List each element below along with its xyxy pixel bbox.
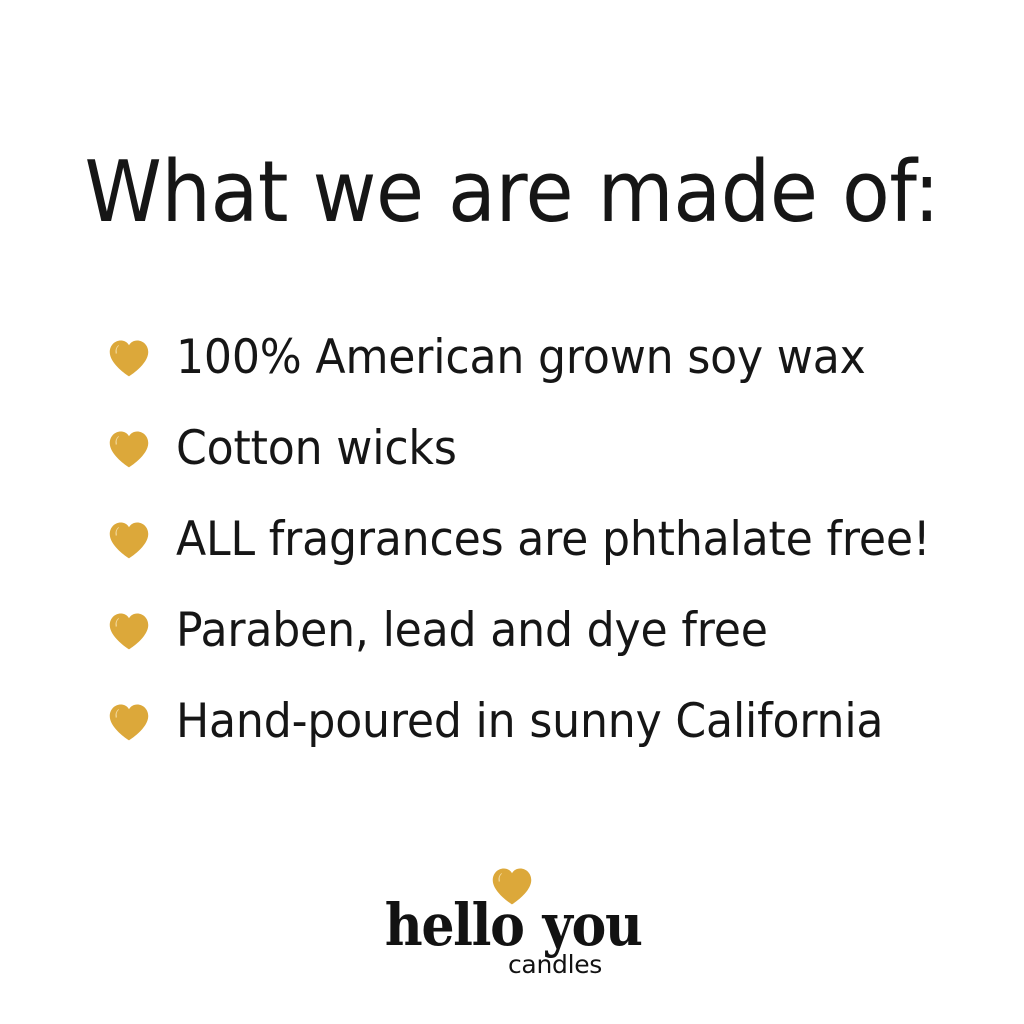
features-list: 100% American grown soy wax Cotton wicks…	[108, 312, 988, 767]
list-item-label: Hand-poured in sunny California	[176, 698, 883, 745]
logo-word-hello: hello	[385, 896, 524, 954]
list-item: 100% American grown soy wax	[108, 312, 988, 403]
logo-word-you: you	[543, 896, 642, 954]
list-item: Hand-poured in sunny California	[108, 676, 988, 767]
list-item: Paraben, lead and dye free	[108, 585, 988, 676]
infographic-canvas: What we are made of: 100% American grown…	[0, 0, 1024, 1024]
logo-subtitle: candles	[422, 950, 602, 979]
logo-wordmark: helloyou	[0, 896, 1024, 954]
brand-logo: helloyou candles	[0, 866, 1024, 986]
list-item-label: ALL fragrances are phthalate free!	[176, 516, 930, 563]
list-item: Cotton wicks	[108, 403, 988, 494]
page-title: What we are made of:	[41, 148, 983, 237]
list-item: ALL fragrances are phthalate free!	[108, 494, 988, 585]
logo-subtitle-row: candles	[0, 950, 1024, 979]
heart-icon	[108, 428, 150, 470]
heart-icon	[108, 519, 150, 561]
list-item-label: Paraben, lead and dye free	[176, 607, 768, 654]
heart-icon	[108, 701, 150, 743]
list-item-label: Cotton wicks	[176, 425, 457, 472]
heart-icon	[108, 337, 150, 379]
list-item-label: 100% American grown soy wax	[176, 334, 866, 381]
heart-icon	[108, 610, 150, 652]
